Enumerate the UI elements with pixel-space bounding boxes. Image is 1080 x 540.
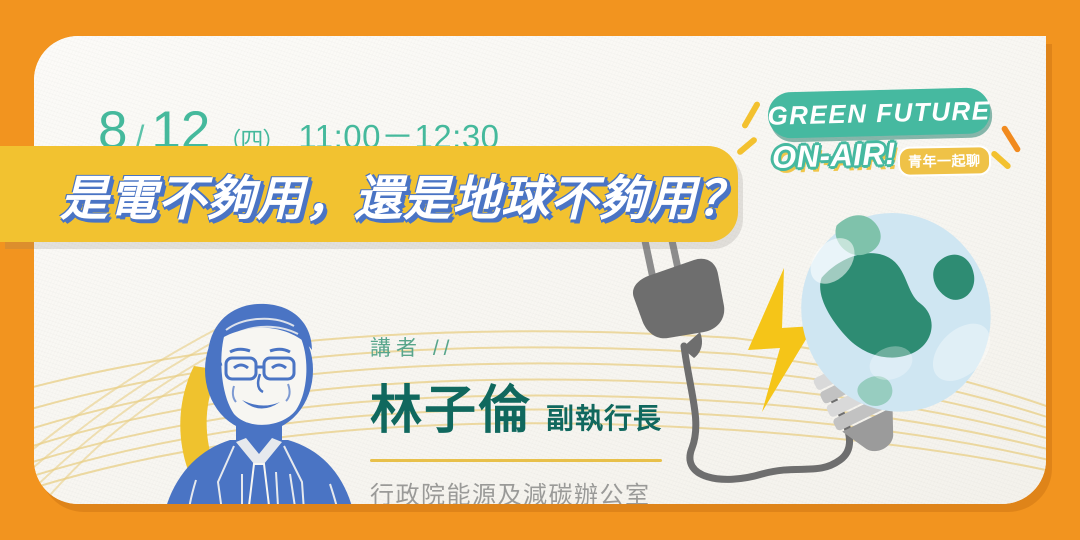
logo-green-future-banner: GREEN FUTURE xyxy=(767,87,990,138)
title-banner: 是電不夠用，還是地球不夠用？ xyxy=(0,146,738,242)
speaker-label: 講者 // xyxy=(370,332,662,362)
speaker-title: 副執行長 xyxy=(546,397,662,437)
speaker-portrait xyxy=(130,274,380,504)
logo-youth-pill: 青年一起聊 xyxy=(898,145,991,177)
logo-ray-right-2 xyxy=(990,150,1012,171)
poster-card: 8 / 12 （四） 11:00－12:30 xyxy=(34,36,1046,504)
logo-ray-left-1 xyxy=(741,101,761,130)
speaker-info: 講者 // 林子倫 副執行長 行政院能源及減碳辦公室 xyxy=(370,332,662,504)
event-title: 是電不夠用，還是地球不夠用？ xyxy=(60,159,746,229)
speaker-name-row: 林子倫 副執行長 xyxy=(370,368,662,443)
speaker-divider xyxy=(370,459,662,462)
speaker-organization: 行政院能源及減碳辦公室 xyxy=(370,475,662,504)
logo-youth-pill-text: 青年一起聊 xyxy=(908,152,981,169)
logo-green-future-text: GREEN FUTURE xyxy=(767,95,991,131)
program-logo: GREEN FUTURE ON-AIR! 青年一起聊 xyxy=(746,90,1006,198)
speaker-name: 林子倫 xyxy=(370,368,532,443)
logo-ray-left-2 xyxy=(736,136,758,156)
logo-ray-right-1 xyxy=(1001,125,1022,154)
logo-on-air-text: ON-AIR! xyxy=(771,136,896,176)
poster-frame: 8 / 12 （四） 11:00－12:30 xyxy=(0,0,1080,540)
